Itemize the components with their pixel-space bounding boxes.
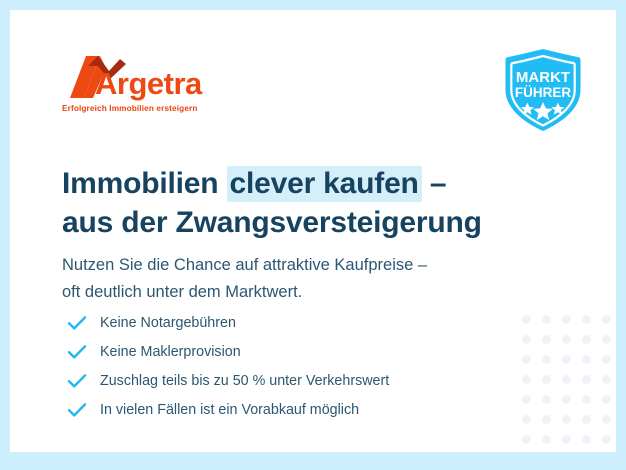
- decoration-dot: [542, 335, 551, 344]
- list-item-label: In vielen Fällen ist ein Vorabkauf mögli…: [100, 402, 359, 418]
- decoration-dot: [582, 395, 591, 404]
- badge-line1: MARKT: [516, 69, 570, 86]
- decoration-dot: [542, 355, 551, 364]
- decoration-dot: [522, 355, 531, 364]
- svg-text:Argetra: Argetra: [95, 66, 203, 101]
- headline-part2: –: [422, 167, 447, 200]
- list-item: Keine Maklerprovision: [66, 337, 506, 366]
- subheadline-line2: oft deutlich unter dem Marktwert.: [62, 279, 572, 306]
- dot-pattern-decoration: [522, 315, 616, 452]
- subheadline: Nutzen Sie die Chance auf attraktive Kau…: [62, 252, 572, 306]
- decoration-dot: [562, 395, 571, 404]
- check-icon: [66, 399, 88, 421]
- decoration-dot: [562, 355, 571, 364]
- list-item-label: Keine Maklerprovision: [100, 344, 241, 360]
- ad-banner: Argetra Erfolgreich Immobilien ersteiger…: [0, 0, 626, 470]
- list-item-label: Zuschlag teils bis zu 50 % unter Verkehr…: [100, 373, 389, 389]
- list-item: Zuschlag teils bis zu 50 % unter Verkehr…: [66, 366, 506, 395]
- decoration-dot: [542, 435, 551, 444]
- decoration-dot: [542, 315, 551, 324]
- decoration-dot: [522, 335, 531, 344]
- list-item: Keine Notargebühren: [66, 308, 506, 337]
- headline-highlight: clever kaufen: [227, 166, 422, 202]
- banner-card: Argetra Erfolgreich Immobilien ersteiger…: [10, 10, 616, 452]
- decoration-dot: [562, 335, 571, 344]
- decoration-dot: [562, 375, 571, 384]
- check-icon: [66, 370, 88, 392]
- decoration-dot: [522, 315, 531, 324]
- decoration-dot: [522, 375, 531, 384]
- page-title: Immobilien clever kaufen – aus der Zwang…: [62, 165, 562, 241]
- argetra-logo-mark: Argetra: [62, 54, 242, 102]
- decoration-dot: [582, 355, 591, 364]
- decoration-dot: [562, 415, 571, 424]
- badge-line2: FÜHRER: [515, 85, 571, 100]
- decoration-dot: [602, 395, 611, 404]
- decoration-dot: [522, 415, 531, 424]
- decoration-dot: [582, 375, 591, 384]
- logo-tagline: Erfolgreich Immobilien ersteigern: [62, 104, 198, 113]
- decoration-dot: [562, 315, 571, 324]
- headline-line2: aus der Zwangsversteigerung: [62, 204, 562, 241]
- argetra-logo[interactable]: Argetra Erfolgreich Immobilien ersteiger…: [62, 54, 242, 118]
- decoration-dot: [602, 415, 611, 424]
- headline-part1: Immobilien: [62, 167, 227, 200]
- markt-fuehrer-badge: MARKT FÜHRER: [499, 46, 587, 134]
- decoration-dot: [582, 335, 591, 344]
- decoration-dot: [602, 355, 611, 364]
- decoration-dot: [542, 375, 551, 384]
- decoration-dot: [542, 415, 551, 424]
- list-item-label: Keine Notargebühren: [100, 315, 236, 331]
- decoration-dot: [582, 415, 591, 424]
- decoration-dot: [582, 315, 591, 324]
- check-icon: [66, 341, 88, 363]
- decoration-dot: [602, 375, 611, 384]
- decoration-dot: [522, 435, 531, 444]
- check-icon: [66, 312, 88, 334]
- benefits-checklist: Keine Notargebühren Keine Maklerprovisio…: [66, 308, 506, 424]
- decoration-dot: [602, 335, 611, 344]
- list-item: In vielen Fällen ist ein Vorabkauf mögli…: [66, 395, 506, 424]
- decoration-dot: [522, 395, 531, 404]
- decoration-dot: [602, 435, 611, 444]
- decoration-dot: [602, 315, 611, 324]
- subheadline-line1: Nutzen Sie die Chance auf attraktive Kau…: [62, 252, 572, 279]
- decoration-dot: [582, 435, 591, 444]
- decoration-dot: [542, 395, 551, 404]
- decoration-dot: [562, 435, 571, 444]
- shield-icon: MARKT FÜHRER: [499, 46, 587, 134]
